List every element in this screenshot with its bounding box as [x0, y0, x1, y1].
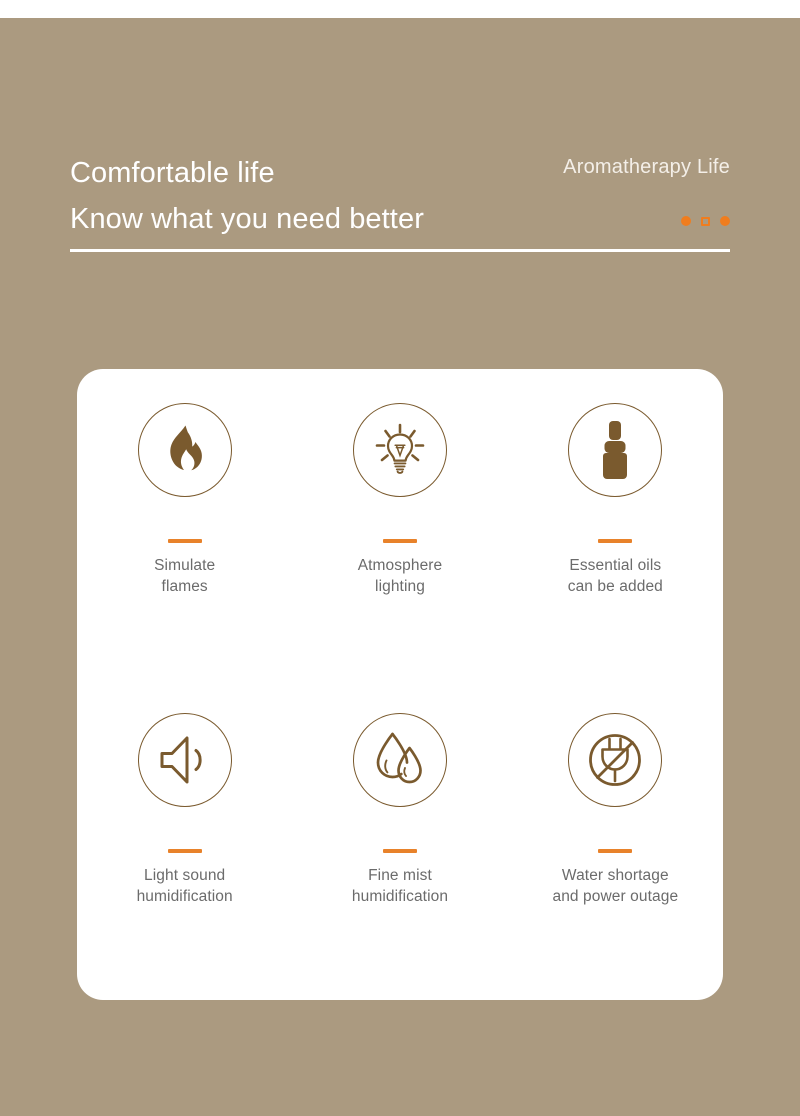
flame-icon — [138, 403, 232, 497]
dropper-bottle-icon — [568, 403, 662, 497]
features-grid: Simulate flames — [77, 369, 723, 1000]
features-card: Simulate flames — [77, 369, 723, 1000]
feature-item-essential-oils[interactable]: Essential oils can be added — [508, 381, 723, 691]
feature-label: Fine mist humidification — [352, 865, 448, 907]
carousel-dots[interactable] — [681, 216, 730, 226]
accent-divider — [168, 849, 202, 853]
carousel-dot-3[interactable] — [720, 216, 730, 226]
feature-item-fine-mist[interactable]: Fine mist humidification — [292, 691, 507, 1001]
no-power-plug-icon — [568, 713, 662, 807]
promo-page: Comfortable life Know what you need bett… — [0, 0, 800, 1116]
carousel-dot-1[interactable] — [681, 216, 691, 226]
feature-item-atmosphere-lighting[interactable]: Atmosphere lighting — [292, 381, 507, 691]
lightbulb-icon — [353, 403, 447, 497]
feature-item-simulate-flames[interactable]: Simulate flames — [77, 381, 292, 691]
accent-divider — [383, 849, 417, 853]
accent-divider — [168, 539, 202, 543]
brand-tag: Aromatherapy Life — [563, 156, 730, 179]
headline-line-2: Know what you need better — [70, 196, 730, 242]
accent-divider — [598, 849, 632, 853]
carousel-dot-2[interactable] — [701, 217, 710, 226]
header: Comfortable life Know what you need bett… — [70, 150, 730, 242]
feature-item-light-sound[interactable]: Light sound humidification — [77, 691, 292, 1001]
water-droplets-icon — [353, 713, 447, 807]
feature-label: Atmosphere lighting — [358, 555, 443, 597]
feature-item-water-shortage-power-outage[interactable]: Water shortage and power outage — [508, 691, 723, 1001]
header-divider-rule — [70, 249, 730, 252]
feature-label: Simulate flames — [154, 555, 215, 597]
feature-label: Light sound humidification — [137, 865, 233, 907]
accent-divider — [383, 539, 417, 543]
feature-label: Essential oils can be added — [568, 555, 663, 597]
headline-block: Comfortable life Know what you need bett… — [70, 150, 730, 242]
accent-divider — [598, 539, 632, 543]
feature-label: Water shortage and power outage — [552, 865, 678, 907]
speaker-icon — [138, 713, 232, 807]
